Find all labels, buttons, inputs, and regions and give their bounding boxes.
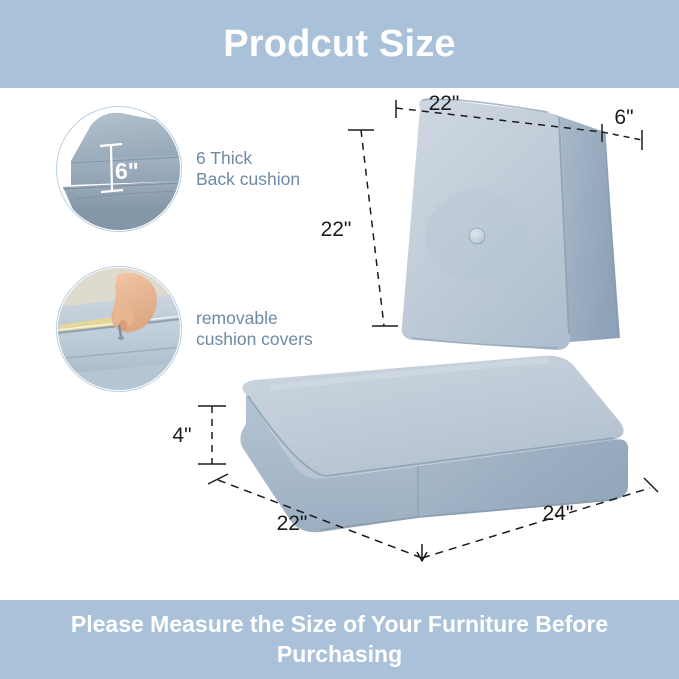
product-diagram-stage: 6" 6 Thick Back cushion <box>0 88 679 600</box>
dimline-back-height <box>361 130 384 326</box>
footer-banner: Please Measure the Size of Your Furnitur… <box>0 600 679 679</box>
product-illustration: 22" 6" 22" 4" 22" 24" <box>150 88 679 600</box>
dim-label-seat-height: 4" <box>172 424 191 447</box>
dim-label-seat-width: 24" <box>543 502 574 525</box>
dim-label-back-width: 22" <box>429 92 460 115</box>
page-title: Prodcut Size <box>223 25 456 63</box>
dim-label-back-depth: 6" <box>614 106 633 129</box>
header-banner: Prodcut Size <box>0 0 679 88</box>
svg-text:6": 6" <box>115 158 139 184</box>
back-cushion-shape <box>402 98 620 350</box>
dim-label-seat-depth: 22" <box>277 512 308 535</box>
dimline-back-depth <box>602 132 642 140</box>
dim-label-back-height: 22" <box>321 218 352 241</box>
tick-seat-width-end <box>644 478 658 492</box>
footer-message: Please Measure the Size of Your Furnitur… <box>28 610 651 669</box>
